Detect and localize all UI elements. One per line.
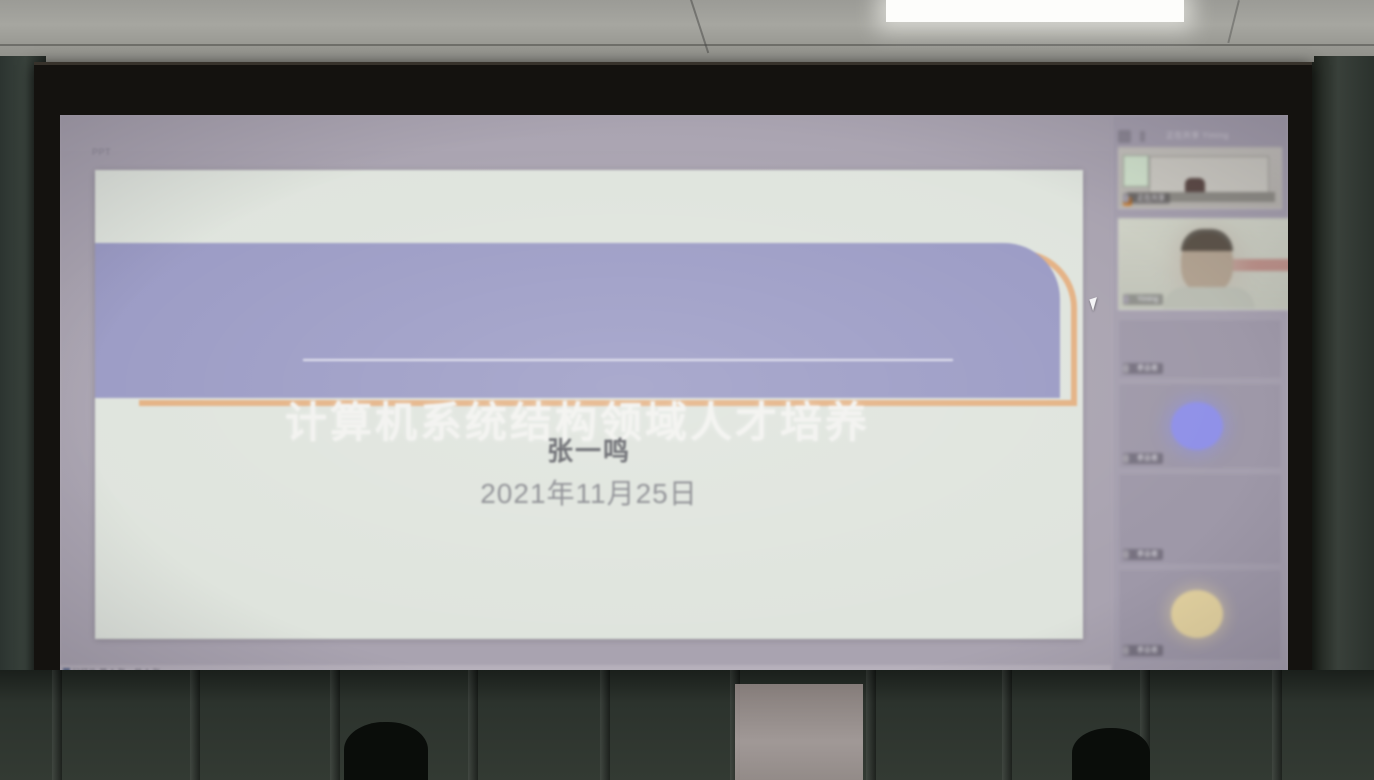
participant-tile-3[interactable]: 参会者 — [1118, 473, 1282, 565]
zoom-sharing-header: 正在共享 Yiming — [1118, 129, 1282, 145]
video-participant-tile[interactable]: Yiming — [1118, 218, 1288, 310]
ceiling-light-panel — [886, 0, 1184, 22]
room-curtains — [0, 670, 1374, 780]
participant-shoulders — [1163, 287, 1255, 309]
slide-canvas[interactable]: 计算机系统结构领域人才培养 张一鸣 2021年11月25日 — [95, 170, 1083, 639]
title-banner: 计算机系统结构领域人才培养 — [95, 243, 1060, 398]
whiteboard-shape — [1149, 156, 1269, 194]
powerpoint-window: PPT 计算机系统结构领域人才培养 张一鸣 2021年11月25日 幻灯片 第 … — [60, 115, 1112, 705]
participant-tile-2[interactable]: 参会者 — [1118, 383, 1282, 469]
tile-name-label: Yiming — [1123, 294, 1163, 305]
powerpoint-titlebar — [60, 115, 1112, 151]
tile-name-label: 正在共享 — [1123, 193, 1170, 204]
screen-share-thumbnail[interactable]: 正在共享 — [1118, 147, 1282, 209]
bezel-highlight — [34, 62, 1312, 65]
projected-screen: PPT 计算机系统结构领域人才培养 张一鸣 2021年11月25日 幻灯片 第 … — [60, 115, 1288, 705]
tile-name-label: 参会者 — [1123, 453, 1163, 464]
background-shape — [1229, 259, 1288, 271]
participant-tile-4[interactable]: 参会者 — [1118, 569, 1282, 661]
slide-date: 2021年11月25日 — [95, 472, 1083, 512]
audience-head — [344, 722, 428, 780]
ceiling-edge-right — [1227, 0, 1240, 43]
back-wall-light — [735, 684, 863, 780]
tile-name-label: 参会者 — [1123, 549, 1163, 560]
slide-presenter-name: 张一鸣 — [95, 431, 1083, 468]
share-side-thumb — [1123, 155, 1149, 187]
avatar — [1171, 402, 1223, 450]
tile-name-label: 参会者 — [1123, 363, 1163, 374]
participant-tile-1[interactable]: 参会者 — [1118, 319, 1282, 379]
participant-hair — [1181, 229, 1233, 251]
sharing-status-label: 正在共享 Yiming — [1166, 130, 1229, 141]
zoom-sidebar: 正在共享 Yiming 正在共享 Yiming — [1112, 115, 1288, 705]
speaker-view-icon[interactable] — [1140, 131, 1145, 142]
powerpoint-window-label: PPT — [92, 147, 111, 157]
banner-divider-line — [303, 359, 953, 361]
avatar — [1171, 590, 1223, 638]
grid-view-icon[interactable] — [1118, 130, 1131, 143]
tile-name-label: 参会者 — [1123, 645, 1163, 656]
ceiling-seam — [0, 44, 1374, 46]
audience-head — [1072, 728, 1150, 780]
projector-room-scene: PPT 计算机系统结构领域人才培养 张一鸣 2021年11月25日 幻灯片 第 … — [0, 0, 1374, 780]
